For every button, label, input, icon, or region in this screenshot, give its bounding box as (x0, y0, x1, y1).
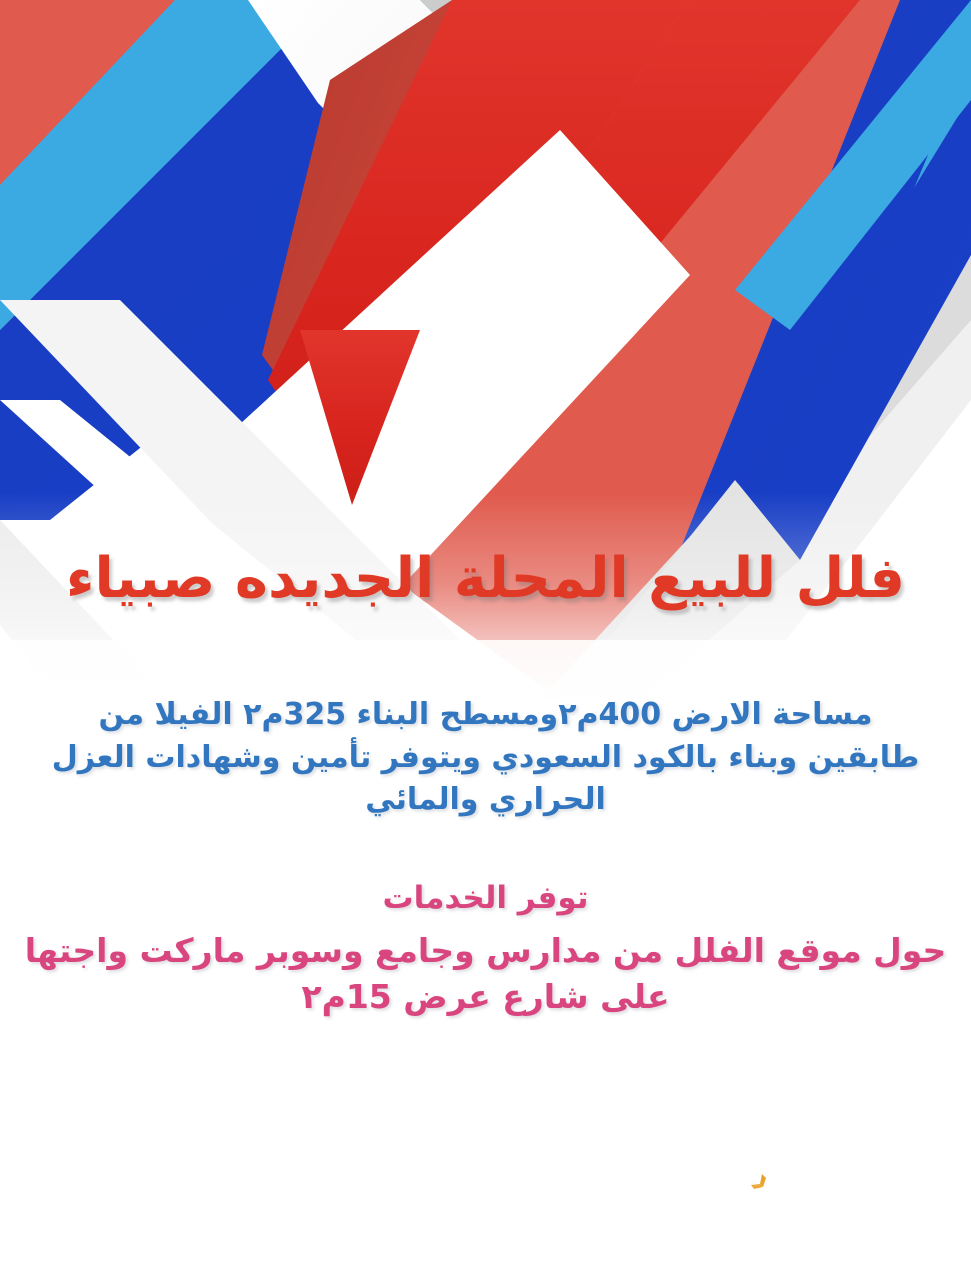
detail-line-3: الحراري والمائي (40, 779, 931, 822)
detail-line-2: طابقين وبناء بالكود السعودي ويتوفر تأمين… (40, 737, 931, 780)
poster-canvas: فلل للبيع المحلة الجديده صبياء مساحة الا… (0, 0, 971, 1280)
services-heading: توفر الخدمات (0, 880, 971, 917)
poster-headline: فلل للبيع المحلة الجديده صبياء (0, 546, 971, 612)
butterfly-mark (748, 1172, 774, 1198)
services-line-1: حول موقع الفلل من مدارس وجامع وسوبر مارك… (0, 928, 971, 974)
butterfly-icon (748, 1172, 774, 1198)
poster-content: فلل للبيع المحلة الجديده صبياء مساحة الا… (0, 0, 971, 1280)
detail-line-1: مساحة الارض 400م٢ومسطح البناء 325م٢ الفي… (40, 694, 931, 737)
property-details-block: مساحة الارض 400م٢ومسطح البناء 325م٢ الفي… (40, 694, 931, 822)
services-details-block: حول موقع الفلل من مدارس وجامع وسوبر مارك… (0, 928, 971, 1020)
services-line-2: على شارع عرض 15م٢ (0, 974, 971, 1020)
